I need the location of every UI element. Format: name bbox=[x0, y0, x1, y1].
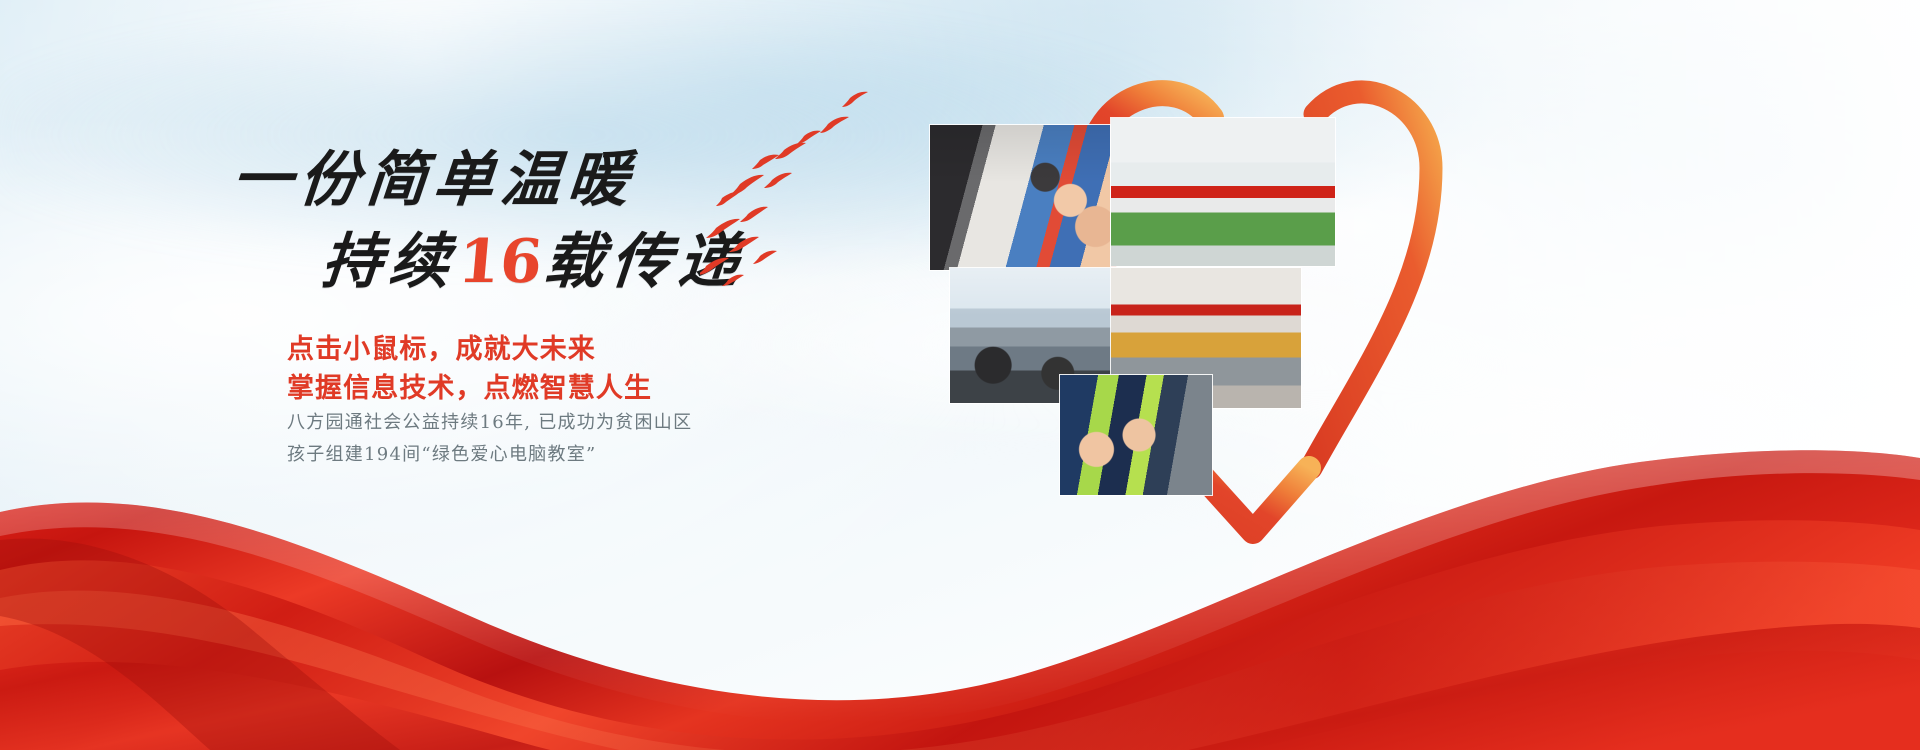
subtitle-line-1: 点击小鼠标，成就大未来 bbox=[287, 330, 652, 369]
subtitle-line-2: 掌握信息技术，点燃智慧人生 bbox=[287, 369, 652, 408]
photo-school-ceremony-outdoor[interactable] bbox=[1111, 118, 1335, 266]
charity-banner: 一份简单温暖 持续16载传递 点击小鼠标，成就大未来 掌握信息技术，点燃智慧人生… bbox=[0, 0, 1920, 750]
subtitle: 点击小鼠标，成就大未来 掌握信息技术，点燃智慧人生 bbox=[287, 330, 652, 408]
headline-years-number: 16 bbox=[453, 227, 547, 297]
photo-computer-lab-students[interactable] bbox=[930, 125, 1110, 270]
red-silk-ribbon-icon bbox=[0, 420, 1920, 750]
headline-line-2-before: 持续 bbox=[319, 227, 460, 297]
